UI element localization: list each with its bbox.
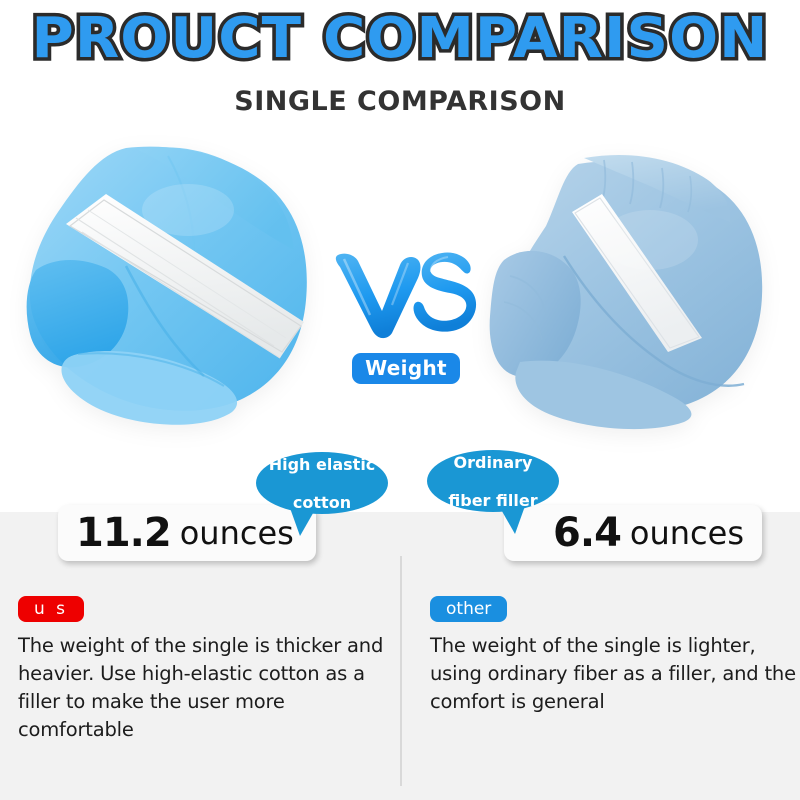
header: PROUCT COMPARISON SINGLE COMPARISON <box>0 0 800 140</box>
vs-icon <box>330 245 480 340</box>
callout-left-line1: High elastic <box>263 455 382 474</box>
description-text-left: The weight of the single is thicker and … <box>18 632 390 744</box>
callout-right-line2: fiber filler <box>442 491 543 510</box>
callout-right-line1: Ordinary <box>442 453 543 472</box>
callout-bubble-left: High elastic cotton <box>256 452 388 514</box>
product-image-right <box>480 150 780 440</box>
callout-bubble-right: Ordinary fiber filler <box>427 450 559 512</box>
label-badge-us: u s <box>18 596 84 622</box>
product-image-left <box>18 140 338 440</box>
attribute-badge-weight: Weight <box>352 353 460 384</box>
description-column-left: u s The weight of the single is thicker … <box>18 596 390 744</box>
callout-left-line2: cotton <box>263 493 382 512</box>
value-number-left: 11.2 <box>76 510 171 556</box>
value-card-left: 11.2 ounces <box>58 505 316 561</box>
label-badge-other: other <box>430 596 507 622</box>
product-photo-area: Weight <box>0 130 800 512</box>
column-divider <box>400 556 402 786</box>
value-card-right: 6.4 ounces <box>504 505 762 561</box>
page-title: PROUCT COMPARISON <box>0 8 800 70</box>
vs-comparison-block: Weight <box>330 245 480 405</box>
value-unit-right: ounces <box>630 514 744 552</box>
page-subtitle: SINGLE COMPARISON <box>0 86 800 117</box>
description-column-right: other The weight of the single is lighte… <box>430 596 800 716</box>
product-comparison-infographic: PROUCT COMPARISON SINGLE COMPARISON <box>0 0 800 800</box>
value-unit-left: ounces <box>180 514 294 552</box>
value-number-right: 6.4 <box>553 510 621 556</box>
description-text-right: The weight of the single is lighter, usi… <box>430 632 800 716</box>
